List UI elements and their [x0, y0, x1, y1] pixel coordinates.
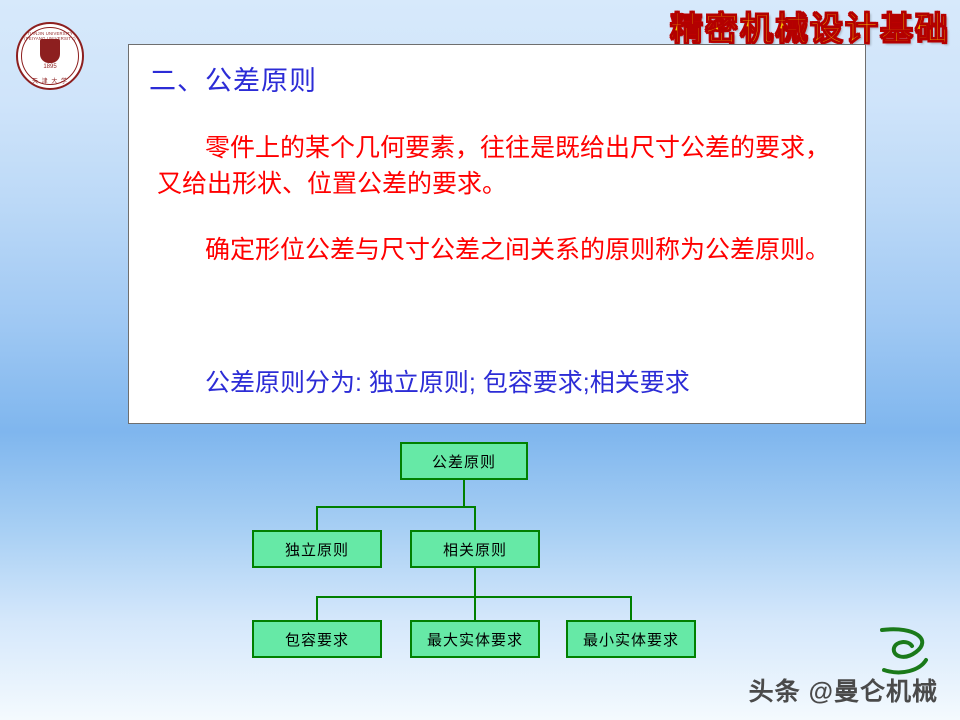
edge-to-independent [316, 506, 318, 530]
edge-to-related [474, 506, 476, 530]
logo-bottom-text: 天 津 大 学 [16, 76, 84, 85]
paragraph-2: 确定形位公差与尺寸公差之间关系的原则称为公差原则。 [157, 232, 847, 268]
university-logo: TIANJIN UNIVERSITY (PEIYANG UNIVERSITY) … [16, 22, 88, 94]
edge-to-mmr [474, 596, 476, 620]
slide-title-bar: 精密机械设计基础 [430, 2, 950, 44]
content-box: 二、公差原则 零件上的某个几何要素，往往是既给出尺寸公差的要求，又给出形状、位置… [128, 44, 866, 424]
diagram-node-lmr: 最小实体要求 [566, 620, 696, 658]
edge-level1-horizontal [316, 506, 476, 508]
tolerance-principle-diagram: 公差原则 独立原则 相关原则 包容要求 最大实体要求 最小实体要求 [0, 424, 960, 674]
section-heading: 二、公差原则 [149, 59, 317, 98]
diagram-node-envelope: 包容要求 [252, 620, 382, 658]
page-title: 精密机械设计基础 [670, 9, 950, 48]
watermark-text: 头条 @曼仑机械 [749, 672, 938, 708]
paragraph-1: 零件上的某个几何要素，往往是既给出尺寸公差的要求，又给出形状、位置公差的要求。 [157, 130, 847, 202]
diagram-node-root: 公差原则 [400, 442, 528, 480]
edge-root-down [463, 480, 465, 506]
swirl-icon [876, 626, 934, 678]
diagram-node-independent: 独立原则 [252, 530, 382, 568]
edge-to-envelope [316, 596, 318, 620]
diagram-node-mmr: 最大实体要求 [410, 620, 540, 658]
logo-year: 1895 [40, 64, 60, 70]
paragraph-3: 公差原则分为: 独立原则; 包容要求;相关要求 [157, 365, 847, 401]
slide: 精密机械设计基础 TIANJIN UNIVERSITY (PEIYANG UNI… [0, 0, 960, 720]
edge-related-down [474, 568, 476, 596]
edge-to-lmr [630, 596, 632, 620]
logo-shield-icon [40, 39, 60, 63]
diagram-node-related: 相关原则 [410, 530, 540, 568]
